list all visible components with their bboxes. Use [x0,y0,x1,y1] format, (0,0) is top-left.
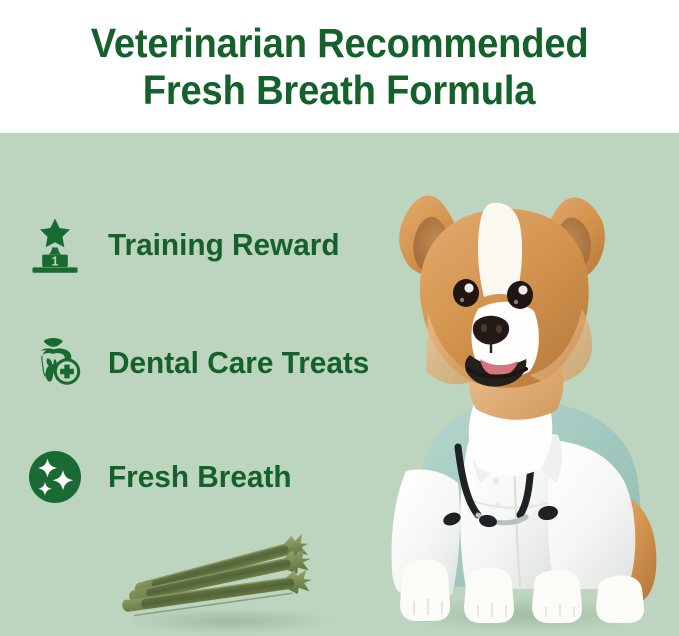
headline-band: Veterinarian Recommended Fresh Breath Fo… [0,0,679,133]
tooth-medical-cross-icon [28,334,82,392]
feature-item-training-reward: 1 Training Reward [28,216,349,274]
feature-item-fresh-breath: Fresh Breath [28,448,299,506]
corgi-vet-photo: corgi-dog-in-lab-coat [372,163,679,636]
feature-label-fresh-breath: Fresh Breath [108,460,292,494]
svg-text:1: 1 [52,254,59,268]
marketing-banner: Veterinarian Recommended Fresh Breath Fo… [0,0,679,636]
green-content-panel: 1 Training Reward [0,133,679,636]
headline-line-2: Fresh Breath Formula [143,67,536,114]
feature-list: 1 Training Reward [0,133,420,513]
feature-label-dental-care: Dental Care Treats [108,346,369,380]
feature-label-training-reward: Training Reward [108,228,340,262]
podium-star-icon: 1 [28,216,82,274]
feature-item-dental-care: Dental Care Treats [28,334,380,392]
dental-chew-sticks-photo: dental-chew-sticks [118,518,348,636]
sparkle-circle-icon [28,448,82,506]
headline-line-1: Veterinarian Recommended [91,20,589,67]
